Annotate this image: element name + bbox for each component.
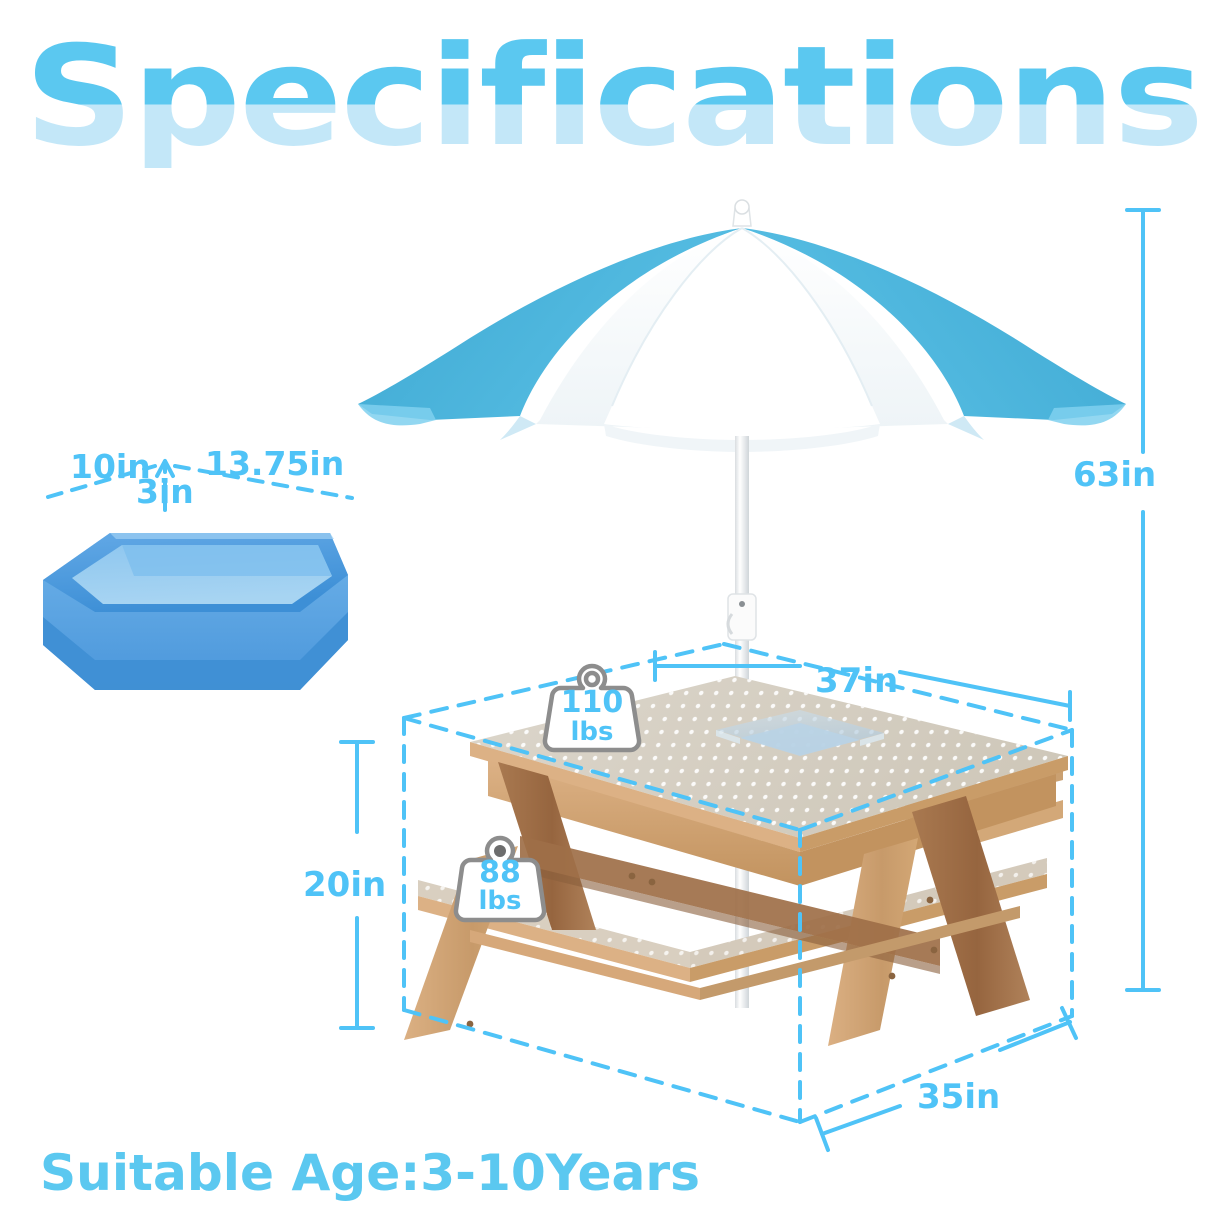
weight-icon xyxy=(545,666,639,750)
tray-height-label: 3in xyxy=(136,472,194,511)
capacity-badges: 110 lbs 88 lbs xyxy=(0,0,1214,1214)
table-bounding-box xyxy=(404,644,1072,1122)
bench-capacity-unit: lbs xyxy=(479,886,522,916)
table-height-label: 20in xyxy=(303,865,386,905)
removable-bin xyxy=(716,710,884,756)
weight-icon xyxy=(456,838,544,920)
tabletop-capacity-unit: lbs xyxy=(571,717,614,747)
suitable-age-svg: Suitable Age:3-10Years xyxy=(40,1138,860,1206)
table-width-label: 37in xyxy=(815,661,898,701)
page-title-svg: Specifications xyxy=(24,28,1204,168)
table-depth-label: 35in xyxy=(917,1077,1000,1117)
page-title: Specifications xyxy=(24,28,1204,168)
tabletop-capacity-badge: 110 lbs xyxy=(545,666,639,750)
sand-water-tray-illustration xyxy=(43,533,348,690)
table-height-line xyxy=(341,742,373,1028)
umbrella-illustration xyxy=(358,200,1126,1008)
picnic-table-illustration xyxy=(404,676,1068,1046)
tabletop-capacity-value: 110 xyxy=(561,685,624,720)
page-title-text: Specifications xyxy=(24,28,1202,168)
tray-dimension-lines xyxy=(48,461,352,510)
table-depth-line xyxy=(816,1008,1076,1150)
bench-capacity-value: 88 xyxy=(479,855,521,890)
suitable-age-text: Suitable Age:3-10Years xyxy=(40,1144,700,1202)
specification-graphic: Specifications xyxy=(0,0,1214,1214)
tray-depth-label: 10in xyxy=(70,447,151,486)
dimension-annotations: 10in 13.75in 3in 63in 20in 37in 35in xyxy=(0,0,1214,1214)
overall-height-line xyxy=(1127,210,1159,990)
tray-width-label: 13.75in xyxy=(205,444,344,483)
table-width-line xyxy=(655,652,1070,720)
product-illustration xyxy=(0,0,1214,1214)
suitable-age-note: Suitable Age:3-10Years xyxy=(40,1138,860,1206)
bench-capacity-badge: 88 lbs xyxy=(456,838,544,920)
overall-height-label: 63in xyxy=(1073,455,1156,495)
